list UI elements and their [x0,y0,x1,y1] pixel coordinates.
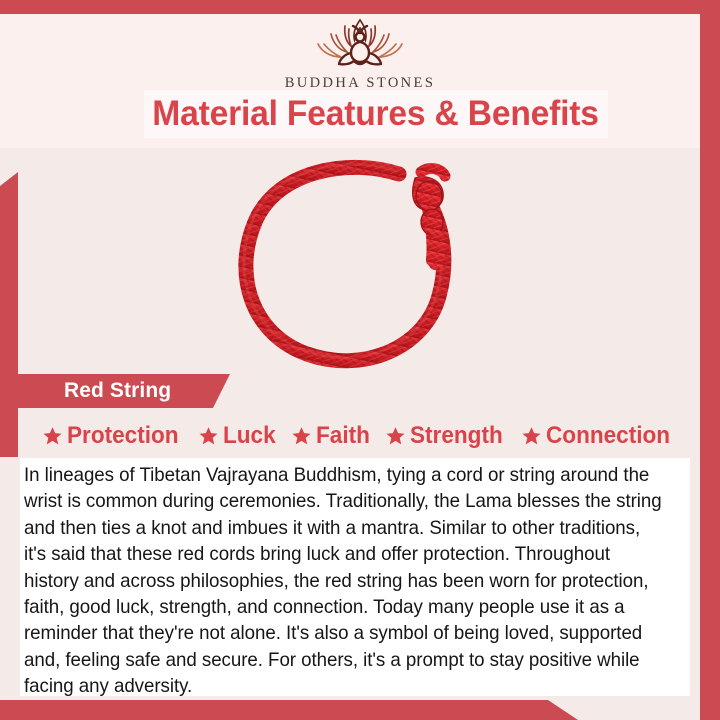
description-panel: In lineages of Tibetan Vajrayana Buddhis… [20,458,690,696]
star-icon [198,426,219,446]
benefit-label: Protection [67,422,179,450]
description-text: In lineages of Tibetan Vajrayana Buddhis… [24,462,665,700]
title-banner: Material Features & Benefits [144,90,608,138]
star-icon [385,426,406,446]
product-label-banner: Red String [18,374,230,408]
benefit-item-faith: Faith [291,422,373,450]
benefit-item-luck: Luck [198,422,279,450]
star-icon [291,426,312,446]
brand-logo: BUDDHA STONES [0,16,720,92]
infographic-page: BUDDHA STONES Material Features & Benefi… [0,0,720,720]
red-braided-string-bracelet-icon [229,152,489,374]
product-label-text: Red String [64,379,171,403]
page-title: Material Features & Benefits [153,94,600,134]
frame-top-bar [0,0,720,14]
frame-right-bar [700,0,720,720]
benefit-item-connection: Connection [521,422,678,450]
frame-bottom-bar [0,700,600,720]
benefit-item-protection: Protection [42,422,186,450]
star-icon [42,426,63,446]
benefit-label: Luck [223,422,276,450]
benefit-label: Strength [410,422,503,450]
benefit-label: Connection [546,422,670,450]
benefit-item-strength: Strength [385,422,509,450]
product-image [18,150,700,375]
frame-left-bar [0,172,18,457]
star-icon [521,426,542,446]
lotus-meditation-icon [308,16,412,72]
benefits-list: Protection Luck Faith Strength Connectio… [18,420,702,452]
benefit-label: Faith [316,422,370,450]
